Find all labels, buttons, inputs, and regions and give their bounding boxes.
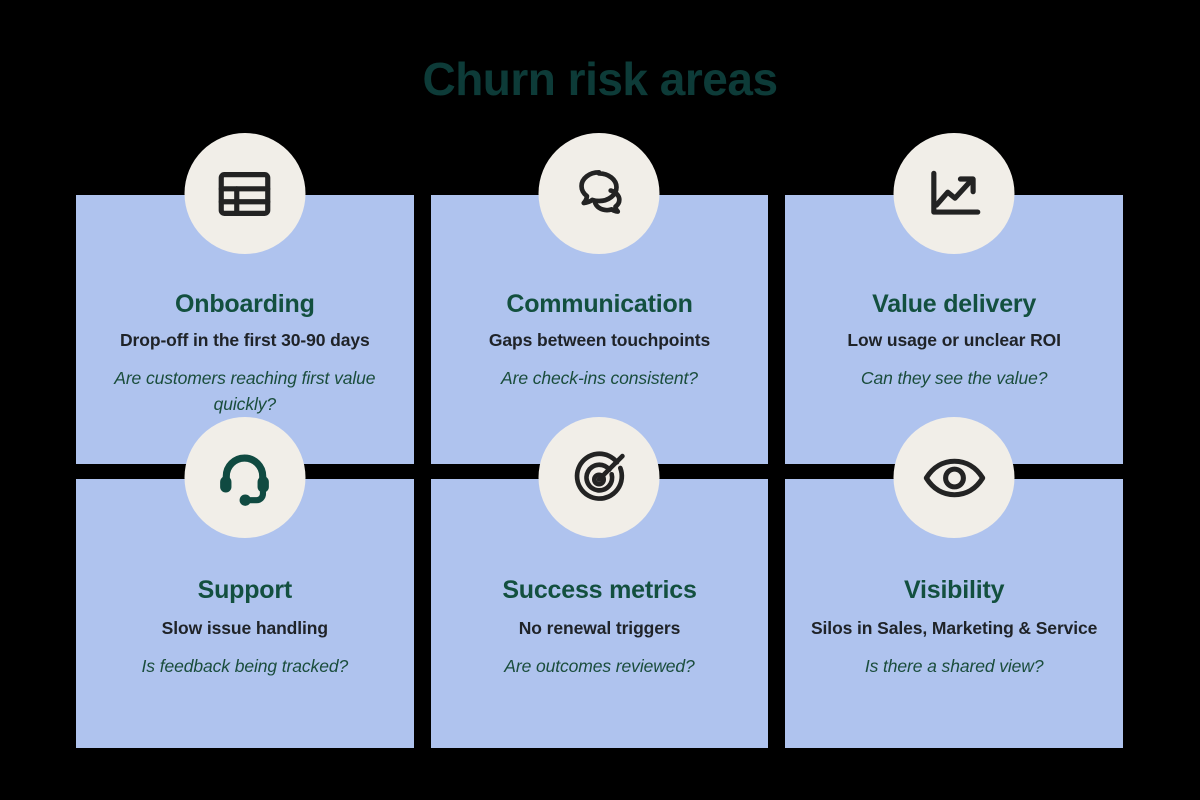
card-question: Are outcomes reviewed? <box>441 653 759 679</box>
risk-area-card-grid: Onboarding Drop-off in the first 30-90 d… <box>76 195 1123 748</box>
card-title: Success metrics <box>441 575 759 605</box>
card-question: Is there a shared view? <box>795 653 1113 679</box>
card-title: Communication <box>441 289 759 319</box>
infographic-canvas: Churn risk areas Onboarding Drop-off in … <box>0 0 1200 800</box>
table-icon <box>184 133 305 254</box>
risk-card-support[interactable]: Support Slow issue handling Is feedback … <box>76 479 414 748</box>
card-question: Is feedback being tracked? <box>86 653 404 679</box>
risk-card-visibility[interactable]: Visibility Silos in Sales, Marketing & S… <box>785 479 1123 748</box>
card-question: Are check-ins consistent? <box>441 365 759 391</box>
card-question: Can they see the value? <box>795 365 1113 391</box>
card-subtitle: Silos in Sales, Marketing & Service <box>795 616 1113 640</box>
trending-up-chart-icon <box>894 133 1015 254</box>
card-subtitle: Low usage or unclear ROI <box>795 328 1113 352</box>
risk-card-success-metrics[interactable]: Success metrics No renewal triggers Are … <box>431 479 769 748</box>
card-title: Visibility <box>795 575 1113 605</box>
card-subtitle: Slow issue handling <box>86 616 404 640</box>
card-subtitle: Drop-off in the first 30-90 days <box>86 328 404 352</box>
card-title: Value delivery <box>795 289 1113 319</box>
card-title: Onboarding <box>86 289 404 319</box>
card-subtitle: Gaps between touchpoints <box>441 328 759 352</box>
card-title: Support <box>86 575 404 605</box>
headset-icon <box>184 417 305 538</box>
card-subtitle: No renewal triggers <box>441 616 759 640</box>
page-title: Churn risk areas <box>0 48 1200 110</box>
eye-icon <box>894 417 1015 538</box>
target-arrow-icon <box>539 417 660 538</box>
speech-bubbles-icon <box>539 133 660 254</box>
card-question: Are customers reaching first value quick… <box>86 365 404 417</box>
